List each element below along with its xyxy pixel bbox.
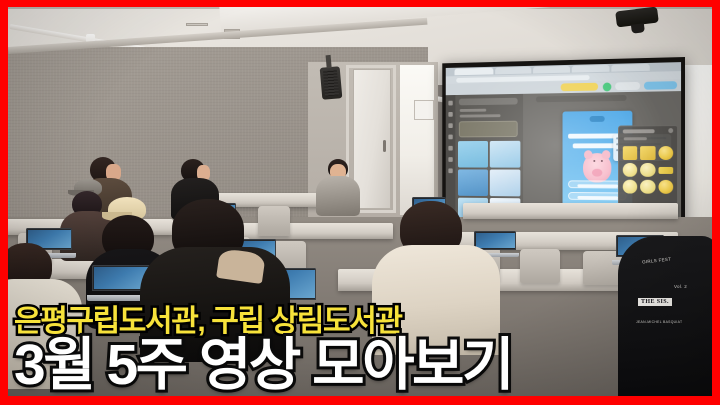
asset-egg-icon[interactable] <box>641 180 656 194</box>
chair[interactable] <box>258 206 290 236</box>
desk <box>463 203 678 219</box>
ceiling-vent-icon <box>186 23 208 26</box>
close-icon[interactable] <box>668 128 673 133</box>
wall-panel-box <box>414 100 434 120</box>
rail-projects-icon[interactable] <box>448 168 452 173</box>
browser-tab[interactable] <box>495 67 531 75</box>
pig-character-icon <box>583 153 611 182</box>
border-top <box>0 0 720 7</box>
rail-elements-icon[interactable] <box>448 112 452 117</box>
border-bottom <box>0 396 720 405</box>
asset-coin-icon[interactable] <box>658 180 673 194</box>
rail-text-icon[interactable] <box>448 123 452 128</box>
asset-egg-icon[interactable] <box>623 180 638 194</box>
template-thumbnail[interactable] <box>458 169 488 196</box>
asset-coin-icon[interactable] <box>658 146 673 160</box>
border-left <box>0 0 8 405</box>
app-primary-button[interactable] <box>644 81 677 90</box>
pig-snout-icon <box>592 169 602 177</box>
template-thumbnail[interactable] <box>458 141 488 168</box>
assets-sub-label <box>624 137 647 140</box>
rail-uploads-icon[interactable] <box>448 146 452 151</box>
panel-search-input[interactable] <box>459 98 518 106</box>
browser-tab[interactable] <box>611 64 649 72</box>
text-overlay: 은평구립도서관, 구립 상림도서관 3월 5주 영상 모아보기 <box>0 305 720 395</box>
window-left <box>400 65 434 215</box>
asset-strip-icon[interactable] <box>658 167 673 174</box>
assets-panel <box>618 125 678 212</box>
app-share-button[interactable] <box>615 82 640 90</box>
template-thumbnail[interactable] <box>490 169 521 196</box>
asset-egg-icon[interactable] <box>623 163 638 177</box>
ceiling-speaker-icon <box>320 66 343 100</box>
jacket-line-2: Vol. 2 <box>674 284 687 289</box>
border-right <box>712 0 720 405</box>
browser-tab[interactable] <box>454 68 493 76</box>
door-handle-icon[interactable] <box>383 140 386 152</box>
rail-design-icon[interactable] <box>448 101 452 106</box>
jacket-line-1: GIRLS FEST <box>642 256 672 264</box>
slide-logo-badge <box>590 116 605 122</box>
browser-tab[interactable] <box>572 65 610 73</box>
rail-brand-icon[interactable] <box>448 135 452 140</box>
assets-panel-title <box>623 129 654 133</box>
asset-bill-icon[interactable] <box>623 146 638 160</box>
thumbnail-frame: GIRLS FEST Vol. 2 THE SIS. JEAN-MICHEL B… <box>0 0 720 405</box>
asset-bill-icon[interactable] <box>641 146 656 160</box>
panel-note-card[interactable] <box>459 121 518 138</box>
app-user-avatar[interactable] <box>603 82 612 91</box>
canvas-toolbar[interactable] <box>536 95 627 102</box>
rail-apps-icon[interactable] <box>448 157 452 162</box>
main-title-text: 3월 5주 영상 모아보기 <box>14 335 720 395</box>
assets-grid <box>623 146 673 194</box>
asset-egg-icon[interactable] <box>641 163 656 177</box>
panel-label <box>460 109 487 112</box>
app-promo-pill[interactable] <box>561 83 598 91</box>
torso <box>316 176 360 216</box>
panel-label <box>460 114 501 117</box>
chair[interactable] <box>520 249 560 283</box>
template-thumbnail[interactable] <box>490 141 521 168</box>
browser-tab[interactable] <box>533 66 570 74</box>
